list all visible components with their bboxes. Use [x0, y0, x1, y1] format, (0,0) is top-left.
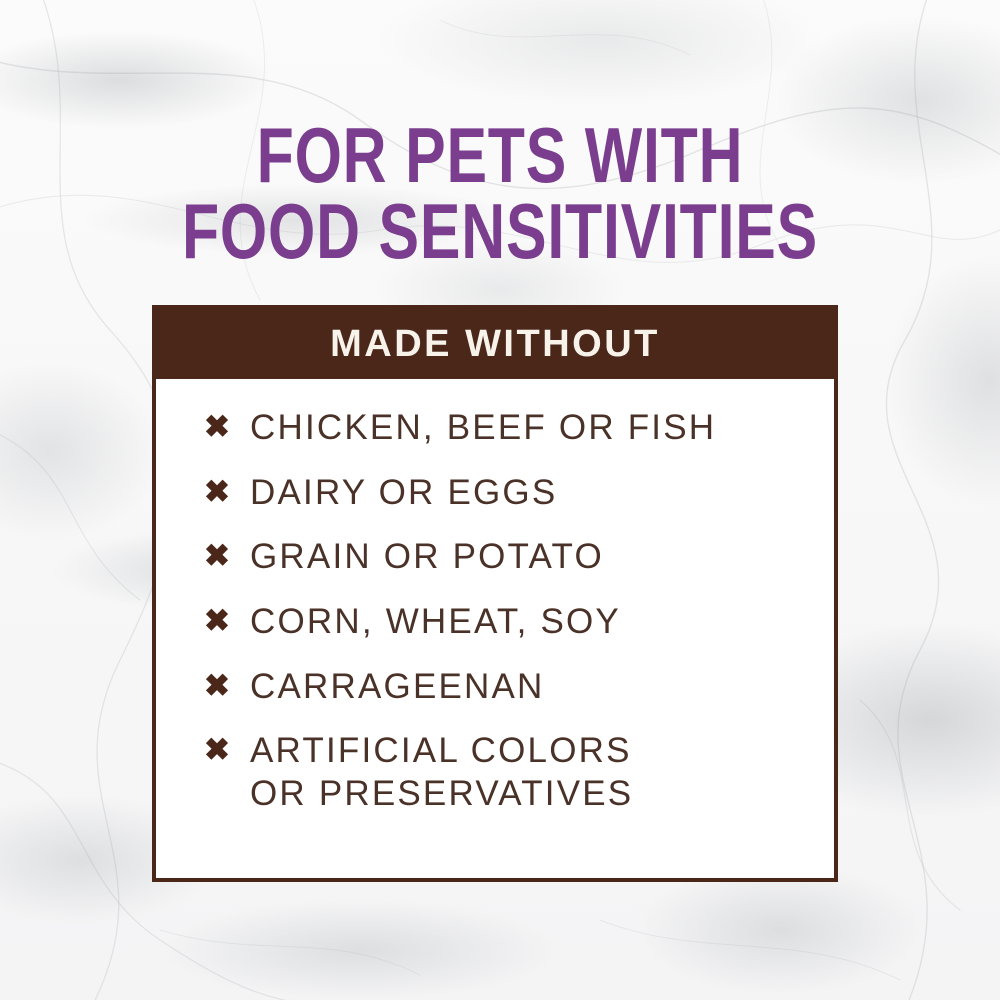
- list-item-label: CHICKEN, BEEF OR FISH: [234, 407, 716, 450]
- x-mark-icon: ✖: [204, 734, 234, 765]
- list-item-label: ARTIFICIAL COLORS OR PRESERVATIVES: [234, 730, 633, 815]
- product-feature-panel: FOR PETS WITH FOOD SENSITIVITIES MADE WI…: [0, 0, 1000, 1000]
- x-mark-icon: ✖: [204, 605, 234, 636]
- list-item: ✖ GRAIN OR POTATO: [204, 536, 834, 579]
- card-header-title: MADE WITHOUT: [330, 323, 660, 366]
- headline-line-2: FOOD SENSITIVITIES: [110, 194, 890, 270]
- made-without-card: MADE WITHOUT ✖ CHICKEN, BEEF OR FISH ✖ D…: [152, 305, 838, 882]
- list-item: ✖ ARTIFICIAL COLORS OR PRESERVATIVES: [204, 730, 834, 815]
- list-item: ✖ CORN, WHEAT, SOY: [204, 601, 834, 644]
- x-mark-icon: ✖: [204, 476, 234, 507]
- headline-line-1: FOR PETS WITH: [110, 118, 890, 194]
- list-item: ✖ CARRAGEENAN: [204, 666, 834, 709]
- list-item: ✖ DAIRY OR EGGS: [204, 472, 834, 515]
- list-item-label: DAIRY OR EGGS: [234, 472, 557, 515]
- list-item: ✖ CHICKEN, BEEF OR FISH: [204, 407, 834, 450]
- list-item-label: CARRAGEENAN: [234, 666, 545, 709]
- list-item-label: CORN, WHEAT, SOY: [234, 601, 621, 644]
- x-mark-icon: ✖: [204, 670, 234, 701]
- x-mark-icon: ✖: [204, 411, 234, 442]
- headline: FOR PETS WITH FOOD SENSITIVITIES: [0, 118, 1000, 269]
- card-header: MADE WITHOUT: [156, 309, 834, 379]
- list-item-label: GRAIN OR POTATO: [234, 536, 604, 579]
- x-mark-icon: ✖: [204, 540, 234, 571]
- made-without-list: ✖ CHICKEN, BEEF OR FISH ✖ DAIRY OR EGGS …: [156, 379, 834, 816]
